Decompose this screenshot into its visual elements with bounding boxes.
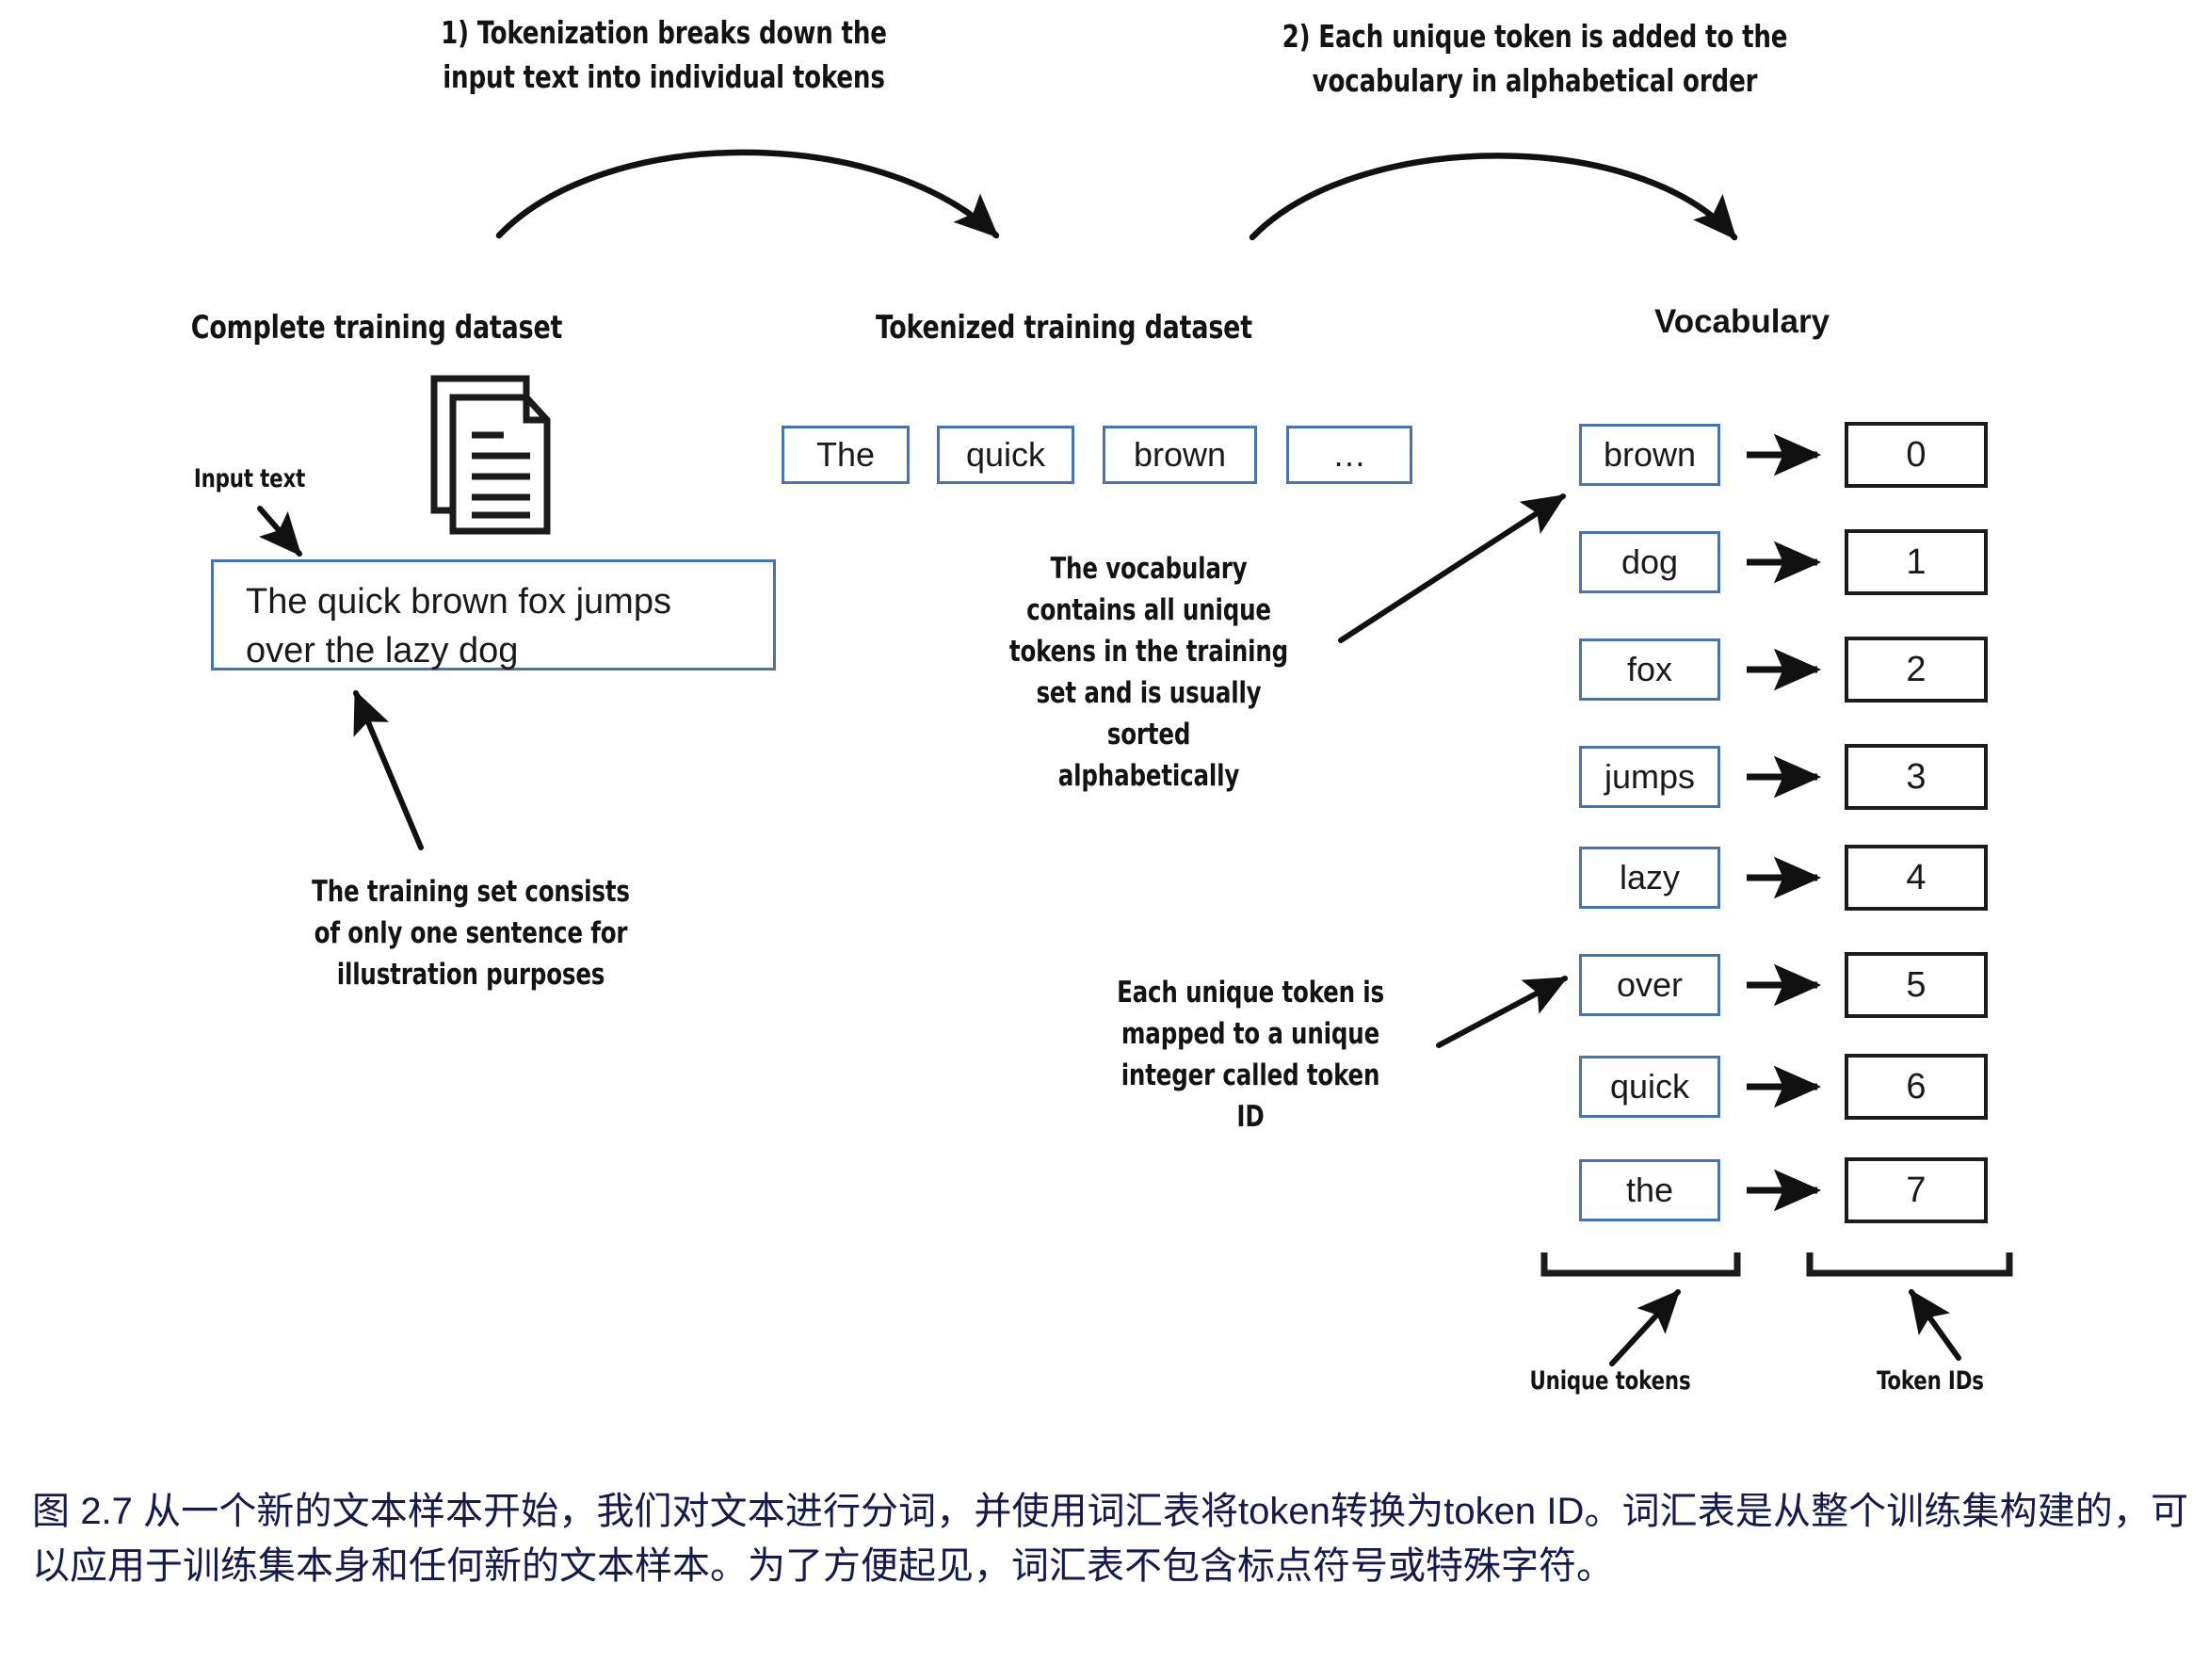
connector-overlay (0, 0, 2209, 1680)
arrow-token-id-note (1439, 978, 1565, 1045)
note-token-id: Each unique token is mapped to a unique … (1093, 972, 1408, 1138)
vocab-id-box-5: 5 (1845, 952, 1988, 1018)
vocab-id-box-2: 2 (1845, 637, 1988, 703)
arrow-training-set-note (356, 693, 421, 848)
bracket-label-unique-tokens: Unique tokens (1482, 1364, 1739, 1399)
token-box-2: brown (1103, 426, 1257, 484)
figure-canvas: 1) Tokenization breaks down the input te… (0, 0, 2209, 1680)
mapping-arrows (1747, 455, 1817, 1190)
vocab-id-box-3: 3 (1845, 744, 1988, 810)
vocab-token-box-0: brown (1579, 424, 1720, 486)
vocab-token-box-4: lazy (1579, 847, 1720, 909)
vocab-token-box-3: jumps (1579, 746, 1720, 808)
vocab-token-box-5: over (1579, 954, 1720, 1016)
vocab-token-box-7: the (1579, 1159, 1720, 1221)
figure-caption: 图 2.7 从一个新的文本样本开始，我们对文本进行分词，并使用词汇表将token… (32, 1484, 2188, 1593)
column-header-complete-dataset: Complete training dataset (120, 305, 634, 350)
step-1-label: 1) Tokenization breaks down the input te… (336, 11, 991, 100)
vocab-token-box-1: dog (1579, 531, 1720, 593)
vocab-id-box-4: 4 (1845, 845, 1988, 911)
bracket-label-token-ids: Token IDs (1830, 1364, 2029, 1399)
bracket-token-ids (1810, 1252, 2009, 1273)
column-header-tokenized-dataset: Tokenized training dataset (791, 305, 1338, 350)
documents-icon (428, 369, 570, 539)
vocab-id-box-0: 0 (1845, 422, 1988, 488)
arrow-vocabulary-note (1341, 496, 1563, 640)
vocab-token-box-6: quick (1579, 1056, 1720, 1118)
token-box-ellipsis: … (1286, 426, 1412, 484)
input-text-box: The quick brown fox jumps over the lazy … (211, 559, 776, 670)
note-training-set: The training set consists of only one se… (267, 871, 673, 995)
token-box-1: quick (937, 426, 1074, 484)
column-header-vocabulary: Vocabulary (1544, 303, 1940, 341)
vocab-token-box-2: fox (1579, 638, 1720, 701)
vocab-id-box-1: 1 (1845, 529, 1988, 595)
arrow-token-ids-label (1911, 1292, 1959, 1358)
curved-arrow-step-1 (499, 153, 996, 235)
vocab-id-box-7: 7 (1845, 1157, 1988, 1223)
arrow-input-text-pointer (260, 509, 299, 554)
arrow-unique-tokens-label (1612, 1292, 1678, 1364)
vocab-id-box-6: 6 (1845, 1054, 1988, 1120)
token-box-0: The (782, 426, 910, 484)
curved-arrow-step-2 (1252, 155, 1734, 237)
input-text-label: Input text (146, 461, 353, 497)
step-2-label: 2) Each unique token is added to the voc… (1203, 15, 1866, 104)
note-vocabulary-contents: The vocabulary contains all unique token… (983, 548, 1314, 797)
bracket-unique-tokens (1544, 1252, 1737, 1273)
